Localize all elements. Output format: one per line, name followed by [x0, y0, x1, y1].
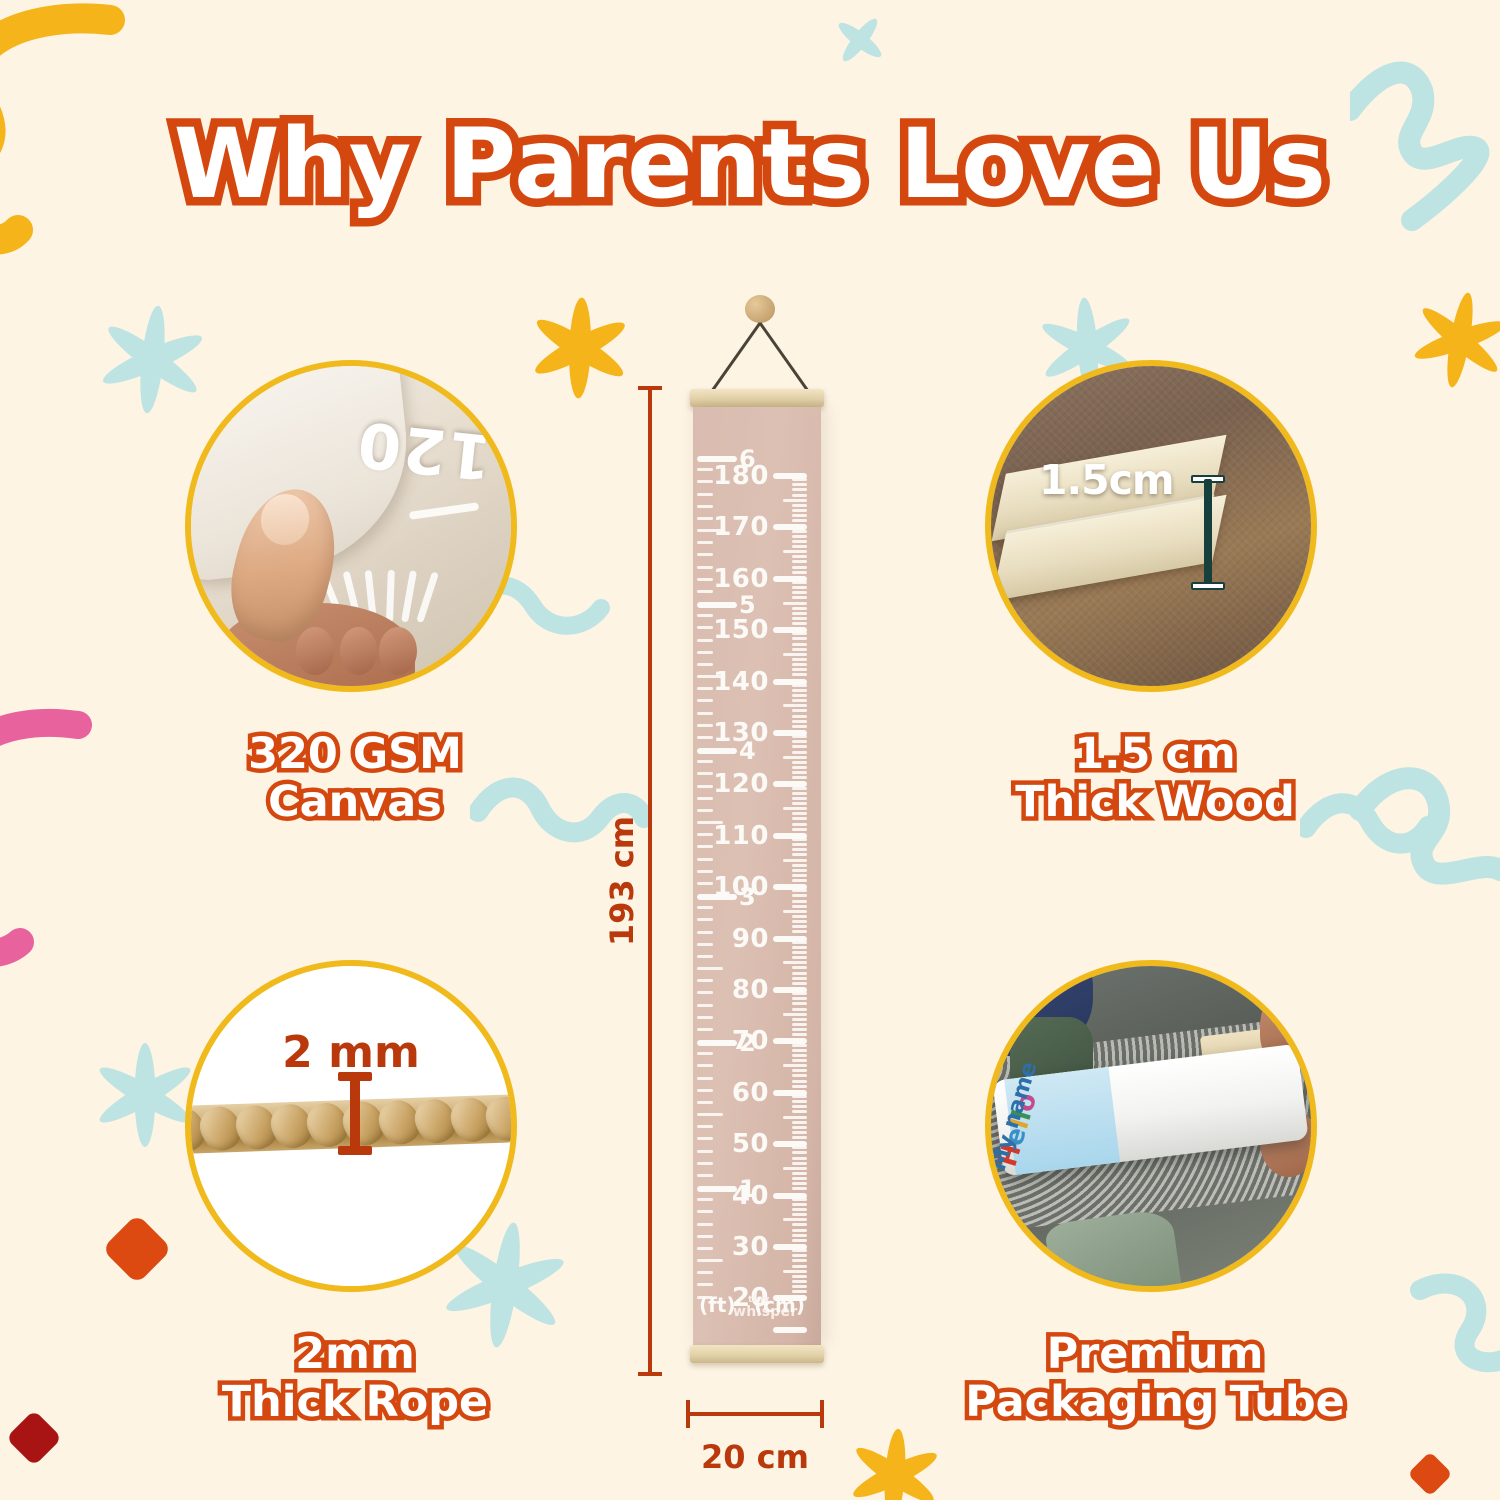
cm-minor-tick — [792, 1157, 807, 1160]
wood-caliper-icon — [1191, 475, 1225, 590]
infographic-root: Why Parents Love Us 120 — [0, 0, 1500, 1500]
blue-sparkle-small-top — [830, 10, 890, 70]
cm-minor-tick — [792, 920, 807, 923]
cm-minor-tick — [783, 961, 807, 964]
cm-minor-tick — [792, 889, 807, 892]
cm-minor-tick — [792, 1121, 807, 1124]
cm-scale: 1801701601501401301201101009080706050403… — [749, 407, 821, 1345]
cm-minor-tick — [792, 797, 807, 800]
ft-minor-tick — [697, 979, 713, 982]
width-dimension-label: 20 cm — [686, 1438, 824, 1476]
cm-label-130: 130 — [713, 718, 769, 748]
cm-minor-tick — [792, 535, 807, 538]
cm-minor-tick — [792, 838, 807, 841]
cm-minor-tick — [792, 956, 807, 959]
cm-minor-tick — [792, 720, 807, 723]
hand-holding-canvas-photo: 120 — [185, 360, 517, 692]
cm-minor-tick — [783, 1013, 807, 1016]
cm-label-110: 110 — [713, 821, 769, 851]
ft-minor-tick — [697, 578, 713, 581]
ft-minor-tick — [697, 712, 713, 715]
cm-label-80: 80 — [732, 975, 769, 1005]
cm-minor-tick — [792, 1151, 807, 1154]
ft-minor-tick — [697, 724, 713, 727]
wood-measurement-label: 1.5cm — [1039, 456, 1174, 504]
cm-minor-tick — [792, 643, 807, 646]
pink-squiggle-left — [0, 690, 150, 970]
cm-minor-tick — [792, 1044, 807, 1047]
cm-minor-tick — [783, 653, 807, 656]
cm-minor-tick — [792, 1018, 807, 1021]
ft-minor-tick — [697, 553, 713, 556]
cm-minor-tick — [792, 1054, 807, 1057]
yellow-sparkle-farright — [1400, 280, 1500, 400]
cm-minor-tick — [792, 817, 807, 820]
cm-minor-tick — [783, 1116, 807, 1119]
cm-minor-tick — [792, 673, 807, 676]
cm-minor-tick — [792, 1080, 807, 1083]
cm-minor-tick — [792, 1049, 807, 1052]
cm-minor-tick — [792, 555, 807, 558]
cm-minor-tick — [792, 894, 807, 897]
cm-minor-tick — [792, 622, 807, 625]
ft-minor-tick — [697, 785, 713, 788]
height-dimension-label: 193 cm — [603, 811, 641, 951]
ft-minor-tick — [697, 493, 713, 496]
cm-minor-tick — [792, 751, 807, 754]
ft-tick-5 — [697, 602, 737, 608]
packaging-tube-photo: Hello My name — [985, 960, 1317, 1292]
ft-minor-tick — [697, 566, 713, 569]
ft-minor-tick — [697, 833, 713, 836]
cm-minor-tick — [792, 519, 807, 522]
cm-minor-tick — [792, 823, 807, 826]
cm-minor-tick — [792, 771, 807, 774]
cm-minor-tick — [792, 925, 807, 928]
cm-minor-tick — [792, 853, 807, 856]
ft-minor-tick — [697, 858, 713, 861]
cm-label-90: 90 — [732, 924, 769, 954]
cm-minor-tick — [792, 1023, 807, 1026]
ft-minor-tick — [697, 1223, 713, 1226]
cm-minor-tick — [792, 977, 807, 980]
ft-minor-tick — [697, 505, 713, 508]
cm-minor-tick — [783, 1270, 807, 1273]
cm-minor-tick — [792, 1177, 807, 1180]
ft-minor-tick — [697, 760, 713, 763]
cm-minor-tick — [792, 1008, 807, 1011]
cm-minor-tick — [792, 694, 807, 697]
cm-minor-tick — [792, 874, 807, 877]
cm-minor-tick — [792, 792, 807, 795]
ft-minor-tick — [697, 541, 713, 544]
cm-minor-tick — [792, 689, 807, 692]
cm-minor-tick — [792, 586, 807, 589]
cm-minor-tick — [792, 787, 807, 790]
cm-minor-tick — [792, 843, 807, 846]
cm-minor-tick — [792, 992, 807, 995]
cm-minor-tick — [792, 504, 807, 507]
feature-gsm-canvas[interactable]: 120 320 GSM Canvas — [185, 360, 525, 850]
ft-minor-tick — [697, 1210, 713, 1213]
cm-label-160: 160 — [713, 564, 769, 594]
cm-minor-tick — [792, 566, 807, 569]
ft-minor-tick — [697, 699, 713, 702]
ft-minor-tick — [697, 1052, 713, 1055]
canvas-strip: 6 5 4 3 2 1 1801701601501401301201101009… — [693, 407, 821, 1345]
ft-minor-tick — [697, 809, 713, 812]
cm-label-100: 100 — [713, 872, 769, 902]
ft-minor-tick — [697, 590, 713, 593]
cm-minor-tick — [792, 591, 807, 594]
jute-rope-thickness-photo: 2 mm — [185, 960, 517, 1292]
cm-minor-tick — [792, 766, 807, 769]
feature-label-thick-rope: 2mm Thick Rope — [155, 1330, 555, 1426]
cm-minor-tick — [792, 1223, 807, 1226]
cm-minor-tick — [792, 478, 807, 481]
unit-label-ft: (ft) — [699, 1293, 736, 1317]
cm-minor-tick — [792, 725, 807, 728]
ft-minor-tick — [697, 480, 713, 483]
cm-minor-tick — [783, 550, 807, 553]
cm-minor-tick — [783, 807, 807, 810]
ft-minor-tick — [697, 1125, 713, 1128]
cm-minor-tick — [792, 612, 807, 615]
ft-minor-tick — [697, 845, 713, 848]
cm-minor-tick — [792, 514, 807, 517]
cm-minor-tick — [792, 946, 807, 949]
cm-minor-tick — [792, 941, 807, 944]
cm-minor-tick — [783, 756, 807, 759]
canvas-photo-number: 120 — [353, 407, 495, 494]
cm-minor-tick — [792, 1285, 807, 1288]
cm-minor-tick — [783, 499, 807, 502]
ft-minor-tick — [697, 626, 713, 629]
canvas-dash — [409, 502, 479, 520]
cm-minor-tick — [792, 1203, 807, 1206]
cm-minor-tick — [792, 900, 807, 903]
ft-minor-tick — [697, 1174, 713, 1177]
ft-minor-tick — [697, 736, 713, 739]
hanging-cord — [690, 317, 830, 395]
cm-minor-tick — [792, 494, 807, 497]
cm-minor-tick — [792, 879, 807, 882]
cm-minor-tick — [792, 1085, 807, 1088]
ft-minor-tick — [697, 870, 713, 873]
cm-minor-tick — [792, 1249, 807, 1252]
cm-minor-tick — [792, 1275, 807, 1278]
cm-minor-tick — [792, 1187, 807, 1190]
cm-minor-tick — [792, 966, 807, 969]
ft-minor-tick — [697, 1028, 713, 1031]
ft-minor-tick — [697, 1137, 713, 1140]
ft-minor-tick — [697, 639, 713, 642]
cm-minor-tick — [783, 910, 807, 913]
yellow-sparkle-bottom — [840, 1420, 950, 1500]
cm-minor-tick — [792, 1234, 807, 1237]
feature-packaging-tube[interactable]: Hello My name Premium Packaging Tube — [985, 960, 1325, 1450]
ft-minor-tick — [697, 517, 713, 520]
cm-minor-tick — [783, 859, 807, 862]
feature-label-gsm-canvas: 320 GSM Canvas — [155, 730, 555, 826]
cm-minor-tick — [792, 1254, 807, 1257]
cm-label-50: 50 — [732, 1129, 769, 1159]
cm-minor-tick — [792, 632, 807, 635]
cm-minor-tick — [792, 776, 807, 779]
cm-minor-tick — [783, 1218, 807, 1221]
cm-label-70: 70 — [732, 1026, 769, 1056]
ft-minor-tick — [697, 943, 713, 946]
cm-minor-tick — [792, 1033, 807, 1036]
ft-minor-tick — [697, 1077, 713, 1080]
cm-minor-tick — [792, 761, 807, 764]
feature-label-thick-wood: 1.5 cm Thick Wood — [955, 730, 1355, 826]
ft-minor-tick — [697, 1162, 713, 1165]
ft-minor-tick — [697, 955, 713, 958]
bottom-wood-bar — [690, 1345, 824, 1363]
cm-minor-tick — [792, 1182, 807, 1185]
ft-minor-tick — [697, 797, 713, 800]
cm-minor-tick — [792, 1126, 807, 1129]
cm-minor-tick — [783, 602, 807, 605]
cm-minor-tick — [783, 1167, 807, 1170]
cm-minor-tick — [792, 663, 807, 666]
orange-diamond — [102, 1214, 173, 1285]
cm-minor-tick — [792, 668, 807, 671]
orange-diamond-small — [1407, 1451, 1452, 1496]
ft-minor-tick — [697, 918, 713, 921]
cm-minor-tick — [792, 509, 807, 512]
ft-minor-tick — [697, 931, 713, 934]
ft-minor-tick — [697, 1247, 713, 1250]
cm-minor-tick — [792, 715, 807, 718]
page-title: Why Parents Love Us — [0, 108, 1500, 220]
cm-minor-tick — [792, 930, 807, 933]
cm-minor-tick — [792, 1136, 807, 1139]
ft-minor-tick — [697, 1113, 723, 1116]
ft-minor-tick — [697, 687, 713, 690]
ft-minor-tick — [697, 1004, 713, 1007]
ft-minor-tick — [697, 1259, 723, 1262]
cm-minor-tick — [792, 530, 807, 533]
cm-minor-tick — [792, 1162, 807, 1165]
cm-minor-tick — [792, 1280, 807, 1283]
cm-minor-tick — [792, 812, 807, 815]
cm-minor-tick — [792, 1095, 807, 1098]
cm-minor-tick — [792, 1259, 807, 1262]
rope-caliper-icon — [338, 1072, 372, 1155]
cm-minor-tick — [792, 848, 807, 851]
wood-slat-thickness-photo: 1.5cm — [985, 360, 1317, 692]
cm-minor-tick — [792, 997, 807, 1000]
cm-minor-tick — [792, 905, 807, 908]
cm-minor-tick — [792, 1131, 807, 1134]
cm-minor-tick — [792, 1100, 807, 1103]
cm-minor-tick — [792, 1002, 807, 1005]
ft-minor-tick — [697, 614, 713, 617]
cm-minor-tick — [792, 1074, 807, 1077]
cm-minor-tick — [792, 735, 807, 738]
cm-minor-tick — [792, 864, 807, 867]
cm-label-170: 170 — [713, 512, 769, 542]
cm-minor-tick — [783, 1064, 807, 1067]
cm-minor-tick — [792, 617, 807, 620]
cm-minor-tick — [792, 1069, 807, 1072]
width-dimension-marker — [686, 1400, 824, 1428]
feature-label-packaging-tube: Premium Packaging Tube — [925, 1330, 1385, 1426]
height-dimension-marker — [638, 386, 662, 1376]
rope-measurement-label: 2 mm — [282, 1027, 420, 1078]
cm-minor-tick — [792, 1028, 807, 1031]
blue-squiggle-bottomright — [1410, 1260, 1500, 1420]
cm-minor-tick — [792, 828, 807, 831]
cm-minor-tick — [783, 704, 807, 707]
cm-minor-tick — [792, 488, 807, 491]
ft-minor-tick — [697, 991, 713, 994]
cm-minor-tick — [792, 1229, 807, 1232]
ft-minor-tick — [697, 1235, 713, 1238]
ft-minor-tick — [697, 1089, 713, 1092]
cm-minor-tick — [792, 540, 807, 543]
ft-minor-tick — [697, 1101, 713, 1104]
ft-minor-tick — [697, 468, 713, 471]
cm-minor-tick — [792, 1110, 807, 1113]
yellow-sparkle-center — [520, 288, 640, 408]
cm-minor-tick — [792, 709, 807, 712]
ft-minor-tick — [697, 1283, 713, 1286]
cm-baseline — [773, 1327, 807, 1333]
ft-minor-tick — [697, 1150, 713, 1153]
cm-minor-tick — [792, 972, 807, 975]
ft-tick-4 — [697, 748, 737, 754]
cm-minor-tick — [792, 1172, 807, 1175]
cm-label-30: 30 — [732, 1232, 769, 1262]
cm-minor-tick — [792, 545, 807, 548]
cm-minor-tick — [792, 1059, 807, 1062]
cm-minor-tick — [792, 915, 807, 918]
cm-minor-tick — [792, 560, 807, 563]
cm-minor-tick — [792, 581, 807, 584]
ft-minor-tick — [697, 882, 713, 885]
cm-minor-tick — [792, 802, 807, 805]
cm-minor-tick — [792, 571, 807, 574]
top-wood-bar — [690, 389, 824, 407]
cm-minor-tick — [792, 596, 807, 599]
ft-minor-tick — [697, 1016, 713, 1019]
red-diamond — [6, 1410, 63, 1467]
cm-minor-tick — [792, 951, 807, 954]
cm-minor-tick — [792, 483, 807, 486]
cm-minor-tick — [792, 869, 807, 872]
cm-label-140: 140 — [713, 667, 769, 697]
cm-minor-tick — [792, 658, 807, 661]
feature-thick-wood[interactable]: 1.5cm 1.5 cm Thick Wood — [985, 360, 1325, 850]
cm-minor-tick — [792, 699, 807, 702]
cm-label-150: 150 — [713, 615, 769, 645]
cm-minor-tick — [792, 684, 807, 687]
cm-minor-tick — [792, 1208, 807, 1211]
cm-minor-tick — [792, 740, 807, 743]
ft-minor-tick — [697, 663, 713, 666]
unit-label-cm: (cm) — [754, 1293, 805, 1317]
blue-squiggle-right — [1350, 740, 1500, 940]
cm-minor-tick — [792, 1239, 807, 1242]
ft-minor-tick — [697, 906, 713, 909]
cm-minor-tick — [792, 1198, 807, 1201]
ft-minor-tick — [697, 1198, 713, 1201]
growth-chart-ruler[interactable]: 6 5 4 3 2 1 1801701601501401301201101009… — [680, 295, 840, 1385]
ft-minor-tick — [697, 772, 713, 775]
cm-minor-tick — [792, 1265, 807, 1268]
feature-thick-rope[interactable]: 2 mm 2mm Thick Rope — [185, 960, 525, 1450]
cm-minor-tick — [792, 1146, 807, 1149]
ft-minor-tick — [697, 1271, 713, 1274]
cm-label-40: 40 — [732, 1181, 769, 1211]
cm-minor-tick — [792, 1105, 807, 1108]
cm-label-180: 180 — [713, 461, 769, 491]
cm-minor-tick — [792, 637, 807, 640]
cm-minor-tick — [792, 648, 807, 651]
cm-minor-tick — [792, 745, 807, 748]
cm-label-60: 60 — [732, 1078, 769, 1108]
ft-minor-tick — [697, 1064, 713, 1067]
cm-minor-tick — [792, 607, 807, 610]
cm-minor-tick — [792, 982, 807, 985]
ft-minor-tick — [697, 967, 723, 970]
ft-minor-tick — [697, 651, 713, 654]
cm-label-120: 120 — [713, 769, 769, 799]
cm-minor-tick — [792, 1213, 807, 1216]
